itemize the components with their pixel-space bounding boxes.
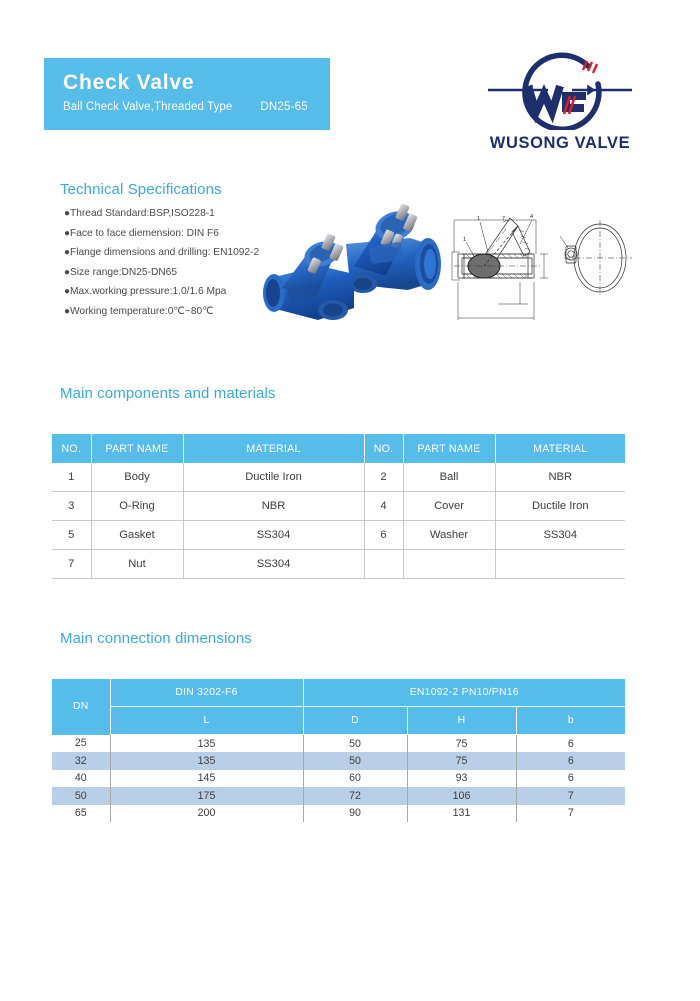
column-header-part-name-right: PART NAME bbox=[403, 434, 495, 463]
table-row: 3 O-Ring NBR 4 Cover Ductile Iron bbox=[52, 492, 625, 521]
cell-no: 2 bbox=[364, 463, 403, 492]
cell-dn: 32 bbox=[52, 752, 110, 769]
cell-no: 6 bbox=[364, 521, 403, 550]
cell-l: 135 bbox=[110, 735, 303, 753]
cell-no: 5 bbox=[52, 521, 91, 550]
column-header-b: b bbox=[516, 707, 625, 735]
cell-h: 75 bbox=[407, 735, 516, 753]
company-logo: WUSONG VALVE bbox=[470, 52, 650, 153]
table-row: 25 135 50 75 6 bbox=[52, 735, 625, 753]
spec-text: Working temperature:0℃~80℃ bbox=[70, 306, 214, 317]
cell-d: 50 bbox=[303, 735, 407, 753]
cell-h: 131 bbox=[407, 805, 516, 823]
cell-d: 90 bbox=[303, 805, 407, 823]
spec-text: Thread Standard:BSP,ISO228-1 bbox=[70, 208, 215, 219]
cell-part-name: Ball bbox=[403, 463, 495, 492]
cell-material: NBR bbox=[183, 492, 364, 521]
column-header-no-left: NO. bbox=[52, 434, 91, 463]
cell-material: Ductile Iron bbox=[183, 463, 364, 492]
cell-dn: 50 bbox=[52, 787, 110, 804]
spec-text: Face to face diemension: DIN F6 bbox=[70, 228, 219, 239]
cell-material: SS304 bbox=[183, 521, 364, 550]
column-header-material-right: MATERIAL bbox=[495, 434, 625, 463]
cell-h: 75 bbox=[407, 752, 516, 769]
cell-material: Ductile Iron bbox=[495, 492, 625, 521]
spec-text: Flange dimensions and drilling: EN1092-2 bbox=[70, 247, 259, 258]
cell-no: 7 bbox=[52, 550, 91, 579]
logo-mark-icon bbox=[470, 52, 650, 130]
cell-material bbox=[495, 550, 625, 579]
table-row: 50 175 72 106 7 bbox=[52, 787, 625, 804]
dimensions-table: DN DIN 3202-F6 EN1092-2 PN10/PN16 L D H … bbox=[52, 679, 625, 823]
cell-d: 50 bbox=[303, 752, 407, 769]
table-row: 7 Nut SS304 bbox=[52, 550, 625, 579]
logo-text: WUSONG VALVE bbox=[470, 134, 650, 153]
svg-text:1: 1 bbox=[463, 237, 466, 243]
table-row: 32 135 50 75 6 bbox=[52, 752, 625, 769]
cell-part-name: Washer bbox=[403, 521, 495, 550]
spec-text: Max.working pressure:1.0/1.6 Mpa bbox=[70, 286, 226, 297]
cell-b: 7 bbox=[516, 787, 625, 804]
cell-no: 4 bbox=[364, 492, 403, 521]
table-row: 5 Gasket SS304 6 Washer SS304 bbox=[52, 521, 625, 550]
flange-face-view-drawing bbox=[560, 220, 632, 296]
section-heading-components: Main components and materials bbox=[60, 385, 276, 402]
cell-dn: 40 bbox=[52, 770, 110, 787]
valve-unit-back bbox=[346, 203, 441, 293]
cell-l: 135 bbox=[110, 752, 303, 769]
table-row: 65 200 90 131 7 bbox=[52, 805, 625, 823]
cell-part-name: Cover bbox=[403, 492, 495, 521]
cell-d: 72 bbox=[303, 787, 407, 804]
column-header-h: H bbox=[407, 707, 516, 735]
cell-dn: 65 bbox=[52, 805, 110, 823]
cell-no bbox=[364, 550, 403, 579]
table-header-sub-row: L D H b bbox=[52, 707, 625, 735]
cell-dn: 25 bbox=[52, 735, 110, 753]
components-table: NO. PART NAME MATERIAL NO. PART NAME MAT… bbox=[52, 434, 625, 579]
column-header-no-right: NO. bbox=[364, 434, 403, 463]
cell-material: SS304 bbox=[183, 550, 364, 579]
table-header-group-row: DN DIN 3202-F6 EN1092-2 PN10/PN16 bbox=[52, 679, 625, 707]
svg-text:1: 1 bbox=[477, 216, 480, 222]
page-title: Check Valve bbox=[63, 70, 330, 96]
cell-h: 93 bbox=[407, 770, 516, 787]
cell-b: 6 bbox=[516, 752, 625, 769]
cell-b: 7 bbox=[516, 805, 625, 823]
cell-material: NBR bbox=[495, 463, 625, 492]
valve-cross-section-drawing bbox=[452, 218, 548, 320]
product-photo bbox=[258, 192, 448, 332]
cell-part-name: O-Ring bbox=[91, 492, 183, 521]
valve-unit-front bbox=[263, 233, 354, 320]
cell-l: 175 bbox=[110, 787, 303, 804]
cell-l: 200 bbox=[110, 805, 303, 823]
table-row: 40 145 60 93 6 bbox=[52, 770, 625, 787]
title-subtitle-row: Ball Check Valve,Threaded Type DN25-65 bbox=[63, 101, 330, 113]
cell-part-name: Gasket bbox=[91, 521, 183, 550]
spec-text: Size range:DN25-DN65 bbox=[70, 267, 177, 278]
column-header-material-left: MATERIAL bbox=[183, 434, 364, 463]
column-header-dn: DN bbox=[52, 679, 110, 735]
column-header-group-en: EN1092-2 PN10/PN16 bbox=[303, 679, 625, 707]
cell-part-name bbox=[403, 550, 495, 579]
page-subtitle: Ball Check Valve,Threaded Type bbox=[63, 101, 232, 113]
section-heading-dimensions: Main connection dimensions bbox=[60, 630, 252, 647]
table-row: 1 Body Ductile Iron 2 Ball NBR bbox=[52, 463, 625, 492]
column-header-part-name-left: PART NAME bbox=[91, 434, 183, 463]
cell-b: 6 bbox=[516, 770, 625, 787]
section-heading-technical: Technical Specifications bbox=[60, 181, 222, 198]
svg-text:4: 4 bbox=[530, 214, 533, 220]
column-header-group-din: DIN 3202-F6 bbox=[110, 679, 303, 707]
size-range-badge: DN25-65 bbox=[260, 101, 307, 113]
page-header: Check Valve Ball Check Valve,Threaded Ty… bbox=[0, 0, 700, 175]
cell-no: 1 bbox=[52, 463, 91, 492]
cell-d: 60 bbox=[303, 770, 407, 787]
cell-part-name: Body bbox=[91, 463, 183, 492]
title-banner: Check Valve Ball Check Valve,Threaded Ty… bbox=[44, 58, 330, 130]
cell-b: 6 bbox=[516, 735, 625, 753]
cell-h: 106 bbox=[407, 787, 516, 804]
column-header-l: L bbox=[110, 707, 303, 735]
svg-text:7: 7 bbox=[502, 216, 505, 222]
cell-l: 145 bbox=[110, 770, 303, 787]
technical-drawing: 1 7 4 1 bbox=[440, 192, 640, 330]
table-header-row: NO. PART NAME MATERIAL NO. PART NAME MAT… bbox=[52, 434, 625, 463]
cell-part-name: Nut bbox=[91, 550, 183, 579]
column-header-d: D bbox=[303, 707, 407, 735]
cell-material: SS304 bbox=[495, 521, 625, 550]
cell-no: 3 bbox=[52, 492, 91, 521]
